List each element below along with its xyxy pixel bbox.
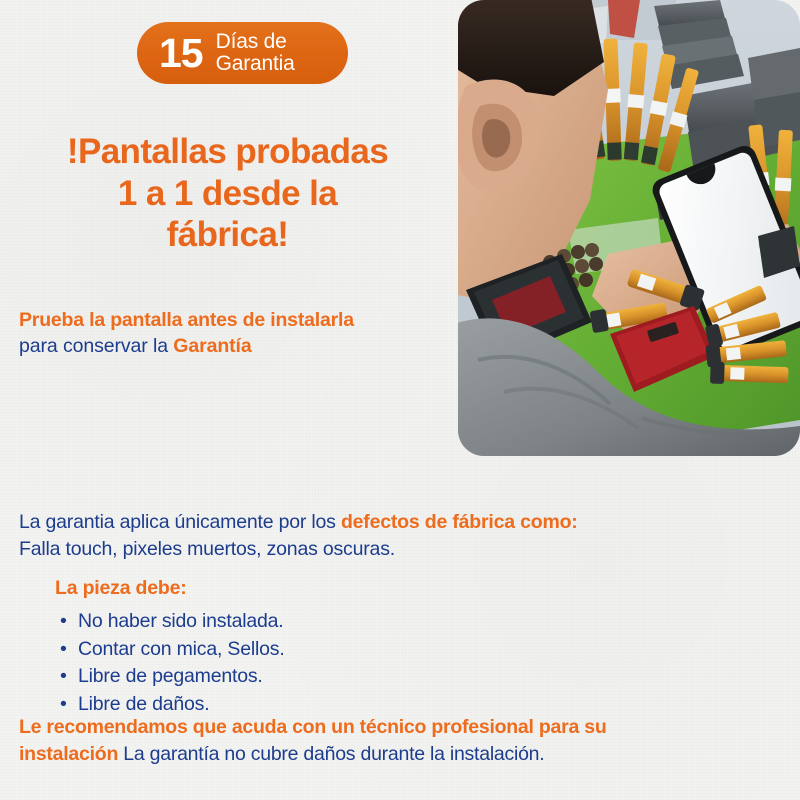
footer-recommendation: Le recomendamos que acuda con un técnico… [19,714,794,768]
warranty-line-1-orange: defectos de fábrica como: [341,511,578,533]
footer-orange-line-1: Le recomendamos que acuda con un técnico… [19,716,606,738]
subtitle-line-2: para conservar la Garantía [19,333,459,359]
headline-line-2: 1 a 1 desde la [0,173,455,215]
warranty-paragraph: La garantia aplica únicamente por los de… [19,509,789,563]
list-item: Contar con mica, Sellos. [60,636,285,664]
badge-number: 15 [159,33,203,74]
subtitle-line-1: Prueba la pantalla antes de instalarla [19,307,459,333]
warranty-line-1-blue: La garantia aplica únicamente por los [19,511,336,533]
technician-photo [458,0,800,456]
warranty-line-2: Falla touch, pixeles muertos, zonas oscu… [19,538,395,560]
piece-requirements-title: La pieza debe: [55,577,187,600]
footer-blue-text: La garantía no cubre daños durante la in… [123,743,544,765]
badge-line-1: Días de [216,31,295,53]
badge-line-2: Garantia [216,53,295,75]
footer-orange-line-2: instalación [19,743,118,765]
warranty-days-badge: 15 Días de Garantia [137,22,348,84]
promo-banner: 15 Días de Garantia !Pantallas probadas … [0,0,800,800]
subtitle-line-2-strong: Garantía [173,335,251,357]
piece-requirements-list: No haber sido instalada. Contar con mica… [60,608,285,719]
list-item: Libre de pegamentos. [60,663,285,691]
headline-line-1: !Pantallas probadas [0,131,455,173]
headline-line-3: fábrica! [0,214,455,256]
technician-photo-illustration [458,0,800,456]
subtitle: Prueba la pantalla antes de instalarla p… [19,307,459,360]
subtitle-line-2-plain: para conservar la [19,335,168,357]
headline: !Pantallas probadas 1 a 1 desde la fábri… [0,131,455,256]
badge-text: Días de Garantia [216,31,295,75]
list-item: No haber sido instalada. [60,608,285,636]
